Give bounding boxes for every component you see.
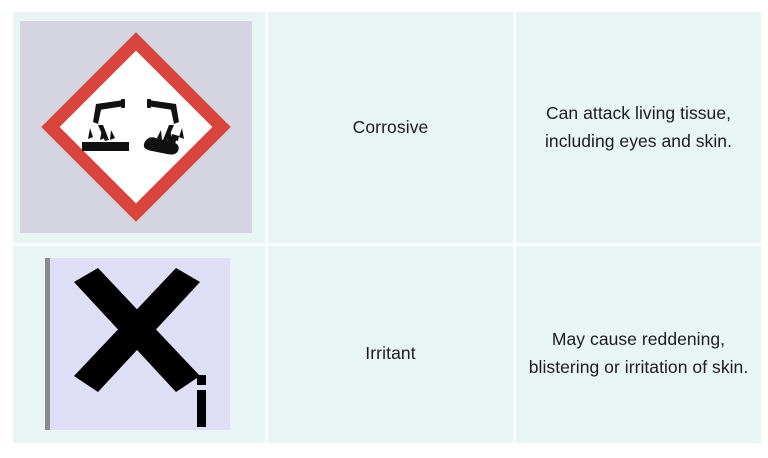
hazard-description-label: May cause reddening, blistering or irrit…	[529, 329, 749, 377]
hazard-symbol-cell-irritant	[13, 244, 267, 443]
corrosion-artwork-icon	[80, 98, 192, 160]
hazard-symbol-cell-corrosive	[13, 12, 267, 244]
hazard-description-cell: Can attack living tissue, including eyes…	[515, 12, 762, 244]
ghs-corrosive-pictogram	[20, 21, 252, 233]
hazard-name-cell: Irritant	[267, 244, 515, 443]
hazard-description-cell: May cause reddening, blistering or irrit…	[515, 244, 762, 443]
table-row: Irritant May cause reddening, blistering…	[13, 244, 761, 443]
hazard-name-cell: Corrosive	[267, 12, 515, 244]
lowercase-i-glyph	[197, 375, 206, 427]
hazard-symbols-table: Corrosive Can attack living tissue, incl…	[13, 12, 761, 443]
table-row: Corrosive Can attack living tissue, incl…	[13, 12, 761, 244]
hazard-description-label: Can attack living tissue, including eyes…	[545, 103, 732, 151]
hazard-name-label: Irritant	[365, 343, 415, 363]
irritant-x-pictogram	[45, 258, 230, 430]
black-x-icon	[50, 258, 230, 430]
hazard-name-label: Corrosive	[353, 117, 429, 137]
